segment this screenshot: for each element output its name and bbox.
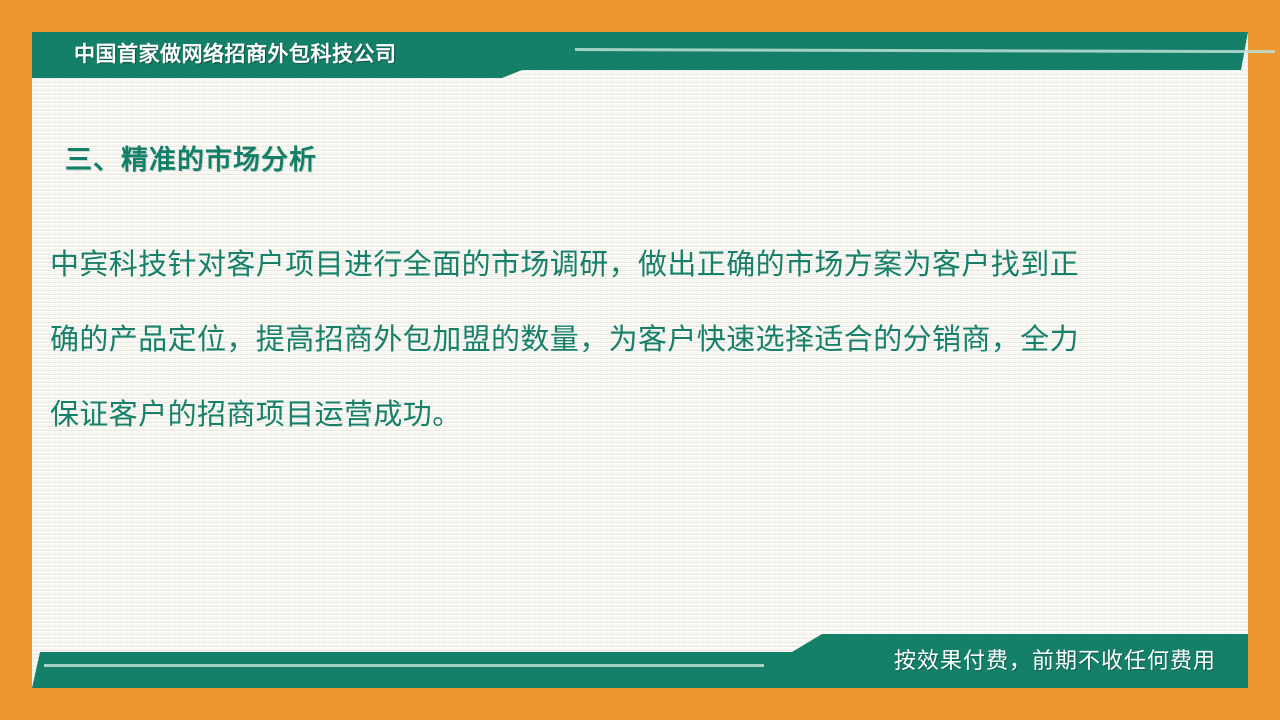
paragraph-line: 确的产品定位，提高招商外包加盟的数量，为客户快速选择适合的分销商，全力: [50, 303, 1190, 378]
footer-band: 按效果付费，前期不收任何费用: [32, 630, 1248, 688]
header-band: 中国首家做网络招商外包科技公司: [32, 32, 1248, 78]
slide-root: 中国首家做网络招商外包科技公司 三、精准的市场分析 中宾科技针对客户项目进行全面…: [0, 0, 1280, 720]
paragraph-line: 保证客户的招商项目运营成功。: [50, 378, 1190, 453]
page-title: 三、精准的市场分析: [65, 138, 317, 177]
footer-tagline: 按效果付费，前期不收任何费用: [894, 634, 1216, 688]
footer-hairline-divider: [44, 664, 764, 667]
header-company-slogan: 中国首家做网络招商外包科技公司: [74, 32, 397, 78]
paragraph-line: 中宾科技针对客户项目进行全面的市场调研，做出正确的市场方案为客户找到正: [50, 228, 1190, 303]
body-paragraph: 中宾科技针对客户项目进行全面的市场调研，做出正确的市场方案为客户找到正 确的产品…: [50, 228, 1190, 453]
